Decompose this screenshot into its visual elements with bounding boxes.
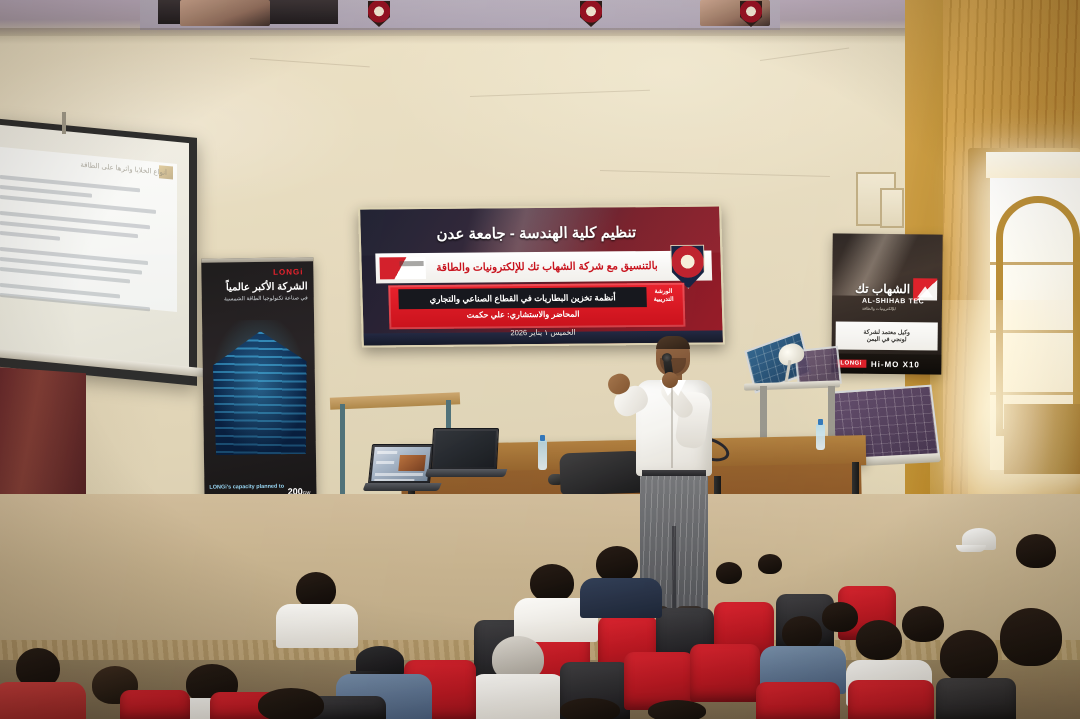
seat[interactable] — [756, 682, 840, 719]
audience-shoulders — [0, 682, 86, 719]
door-mullion — [990, 330, 1080, 333]
screen-surface: أنواع الخلايا وأثرها على الطاقة — [0, 125, 189, 376]
door-mullion — [990, 392, 1080, 395]
audience-shoulders — [580, 578, 662, 618]
presenter-right-hand — [662, 372, 678, 388]
banner-topic-box: أنظمة تخزين البطاريات في القطاع الصناعي … — [398, 287, 647, 309]
shihab-partner-footer: LONGi Hi-MO X10 — [831, 353, 941, 374]
audience-head — [782, 616, 822, 650]
banner-workshop-tag: الورشة التدريبية — [646, 288, 680, 304]
audience-cap — [356, 646, 404, 676]
audience-head — [716, 562, 742, 584]
transom-window — [986, 152, 1080, 178]
shihab-name-ar: الشهاب تك — [855, 282, 910, 297]
longi-partner-logo: LONGi — [836, 359, 866, 367]
longi-model-name: Hi-MO X10 — [871, 359, 920, 369]
door-lower-panel[interactable] — [1004, 404, 1080, 474]
shihab-claim-box: وكيل معتمد لشركة لونجي في اليمن — [836, 321, 938, 350]
laptop-screen — [434, 431, 496, 467]
shihab-name-en: AL-SHIHAB TEC — [862, 298, 924, 306]
longi-rollup-banner: LONGi الشركة الأكبر عالمياً في صناعة تكن… — [201, 257, 317, 517]
presenter-hair — [656, 336, 690, 349]
banner-organizer-line: تنظيم كلية الهندسة - جامعة عدن — [361, 223, 713, 244]
audience-head — [902, 606, 944, 642]
wall-niche — [880, 188, 904, 228]
banner-partner-line: بالتنسيق مع شركة الشهاب تك للإلكترونيات … — [426, 260, 712, 274]
laptop-base — [425, 469, 508, 477]
shihab-claim-line-2: لونجي في اليمن — [867, 336, 907, 343]
audience-head — [758, 554, 782, 574]
banner-photo — [180, 0, 270, 26]
audience-head — [822, 602, 858, 632]
military-crest-icon — [580, 1, 602, 27]
audience-head — [648, 700, 706, 719]
longi-logo: LONGi — [273, 267, 303, 276]
slide-title: أنواع الخلايا وأثرها على الطاقة — [47, 157, 167, 178]
audience-shoulders — [470, 674, 566, 719]
shihab-name-en-sub: للإلكترونيات والطاقة — [862, 306, 896, 311]
audience-head — [296, 572, 336, 608]
audience-head — [596, 546, 638, 582]
audience-head — [940, 630, 998, 682]
audience-shoulders — [276, 604, 358, 648]
banner-topic-band: الورشة التدريبية أنظمة تخزين البطاريات ف… — [388, 283, 685, 330]
longi-subline: في صناعة تكنولوجيا الطاقة الشمسية — [208, 295, 308, 302]
rollup-top-rail — [201, 257, 313, 263]
laptop-lid — [368, 444, 434, 484]
shihab-logo-icon — [913, 278, 937, 300]
audience-area — [0, 520, 1080, 719]
banner-topic-text: أنظمة تخزين البطاريات في القطاع الصناعي … — [429, 292, 615, 305]
door-mullion — [990, 262, 1080, 265]
top-wall-banner — [140, 0, 780, 30]
audience-head — [1016, 534, 1056, 568]
screen-hanger — [62, 112, 66, 134]
shihab-rollup-banner: الشهاب تك AL-SHIHAB TEC للإلكترونيات وال… — [831, 233, 942, 374]
slide-content: أنواع الخلايا وأثرها على الطاقة — [0, 146, 177, 312]
audience-head — [856, 620, 902, 660]
audience-cap — [962, 528, 996, 550]
presenter-belt — [642, 470, 706, 476]
audience-head — [1000, 608, 1062, 666]
longi-headline: الشركة الأكبر عالمياً — [208, 281, 308, 293]
door-arch-mullion — [996, 196, 1080, 436]
building-glow — [206, 319, 312, 460]
seat[interactable] — [936, 678, 1016, 719]
panel-table-leg — [828, 386, 835, 442]
event-banner: تنظيم كلية الهندسة - جامعة عدن بالتنسيق … — [358, 204, 725, 347]
laptop-base — [362, 483, 441, 491]
seat[interactable] — [848, 680, 934, 719]
shihab-logo-icon — [379, 257, 426, 279]
audience-head — [258, 688, 324, 719]
military-crest-icon — [368, 1, 390, 27]
seat[interactable] — [690, 644, 760, 702]
shirt-placket — [671, 388, 673, 468]
lecture-hall-photo: أنواع الخلايا وأثرها على الطاقة تنظيم كل… — [0, 0, 1080, 719]
audience-head — [560, 698, 620, 719]
banner-presenter-line: المحاضر والاستشاري: علي حكمت — [399, 309, 647, 320]
audience-head — [530, 564, 574, 602]
projection-screen: أنواع الخلايا وأثرها على الطاقة — [0, 118, 197, 386]
water-bottle[interactable] — [538, 440, 547, 470]
laptop-screen — [371, 447, 431, 481]
banner-partner-band: بالتنسيق مع شركة الشهاب تك للإلكترونيات … — [375, 251, 712, 284]
seat[interactable] — [120, 690, 190, 719]
laptop-lid — [431, 428, 499, 470]
water-bottle[interactable] — [816, 424, 825, 450]
